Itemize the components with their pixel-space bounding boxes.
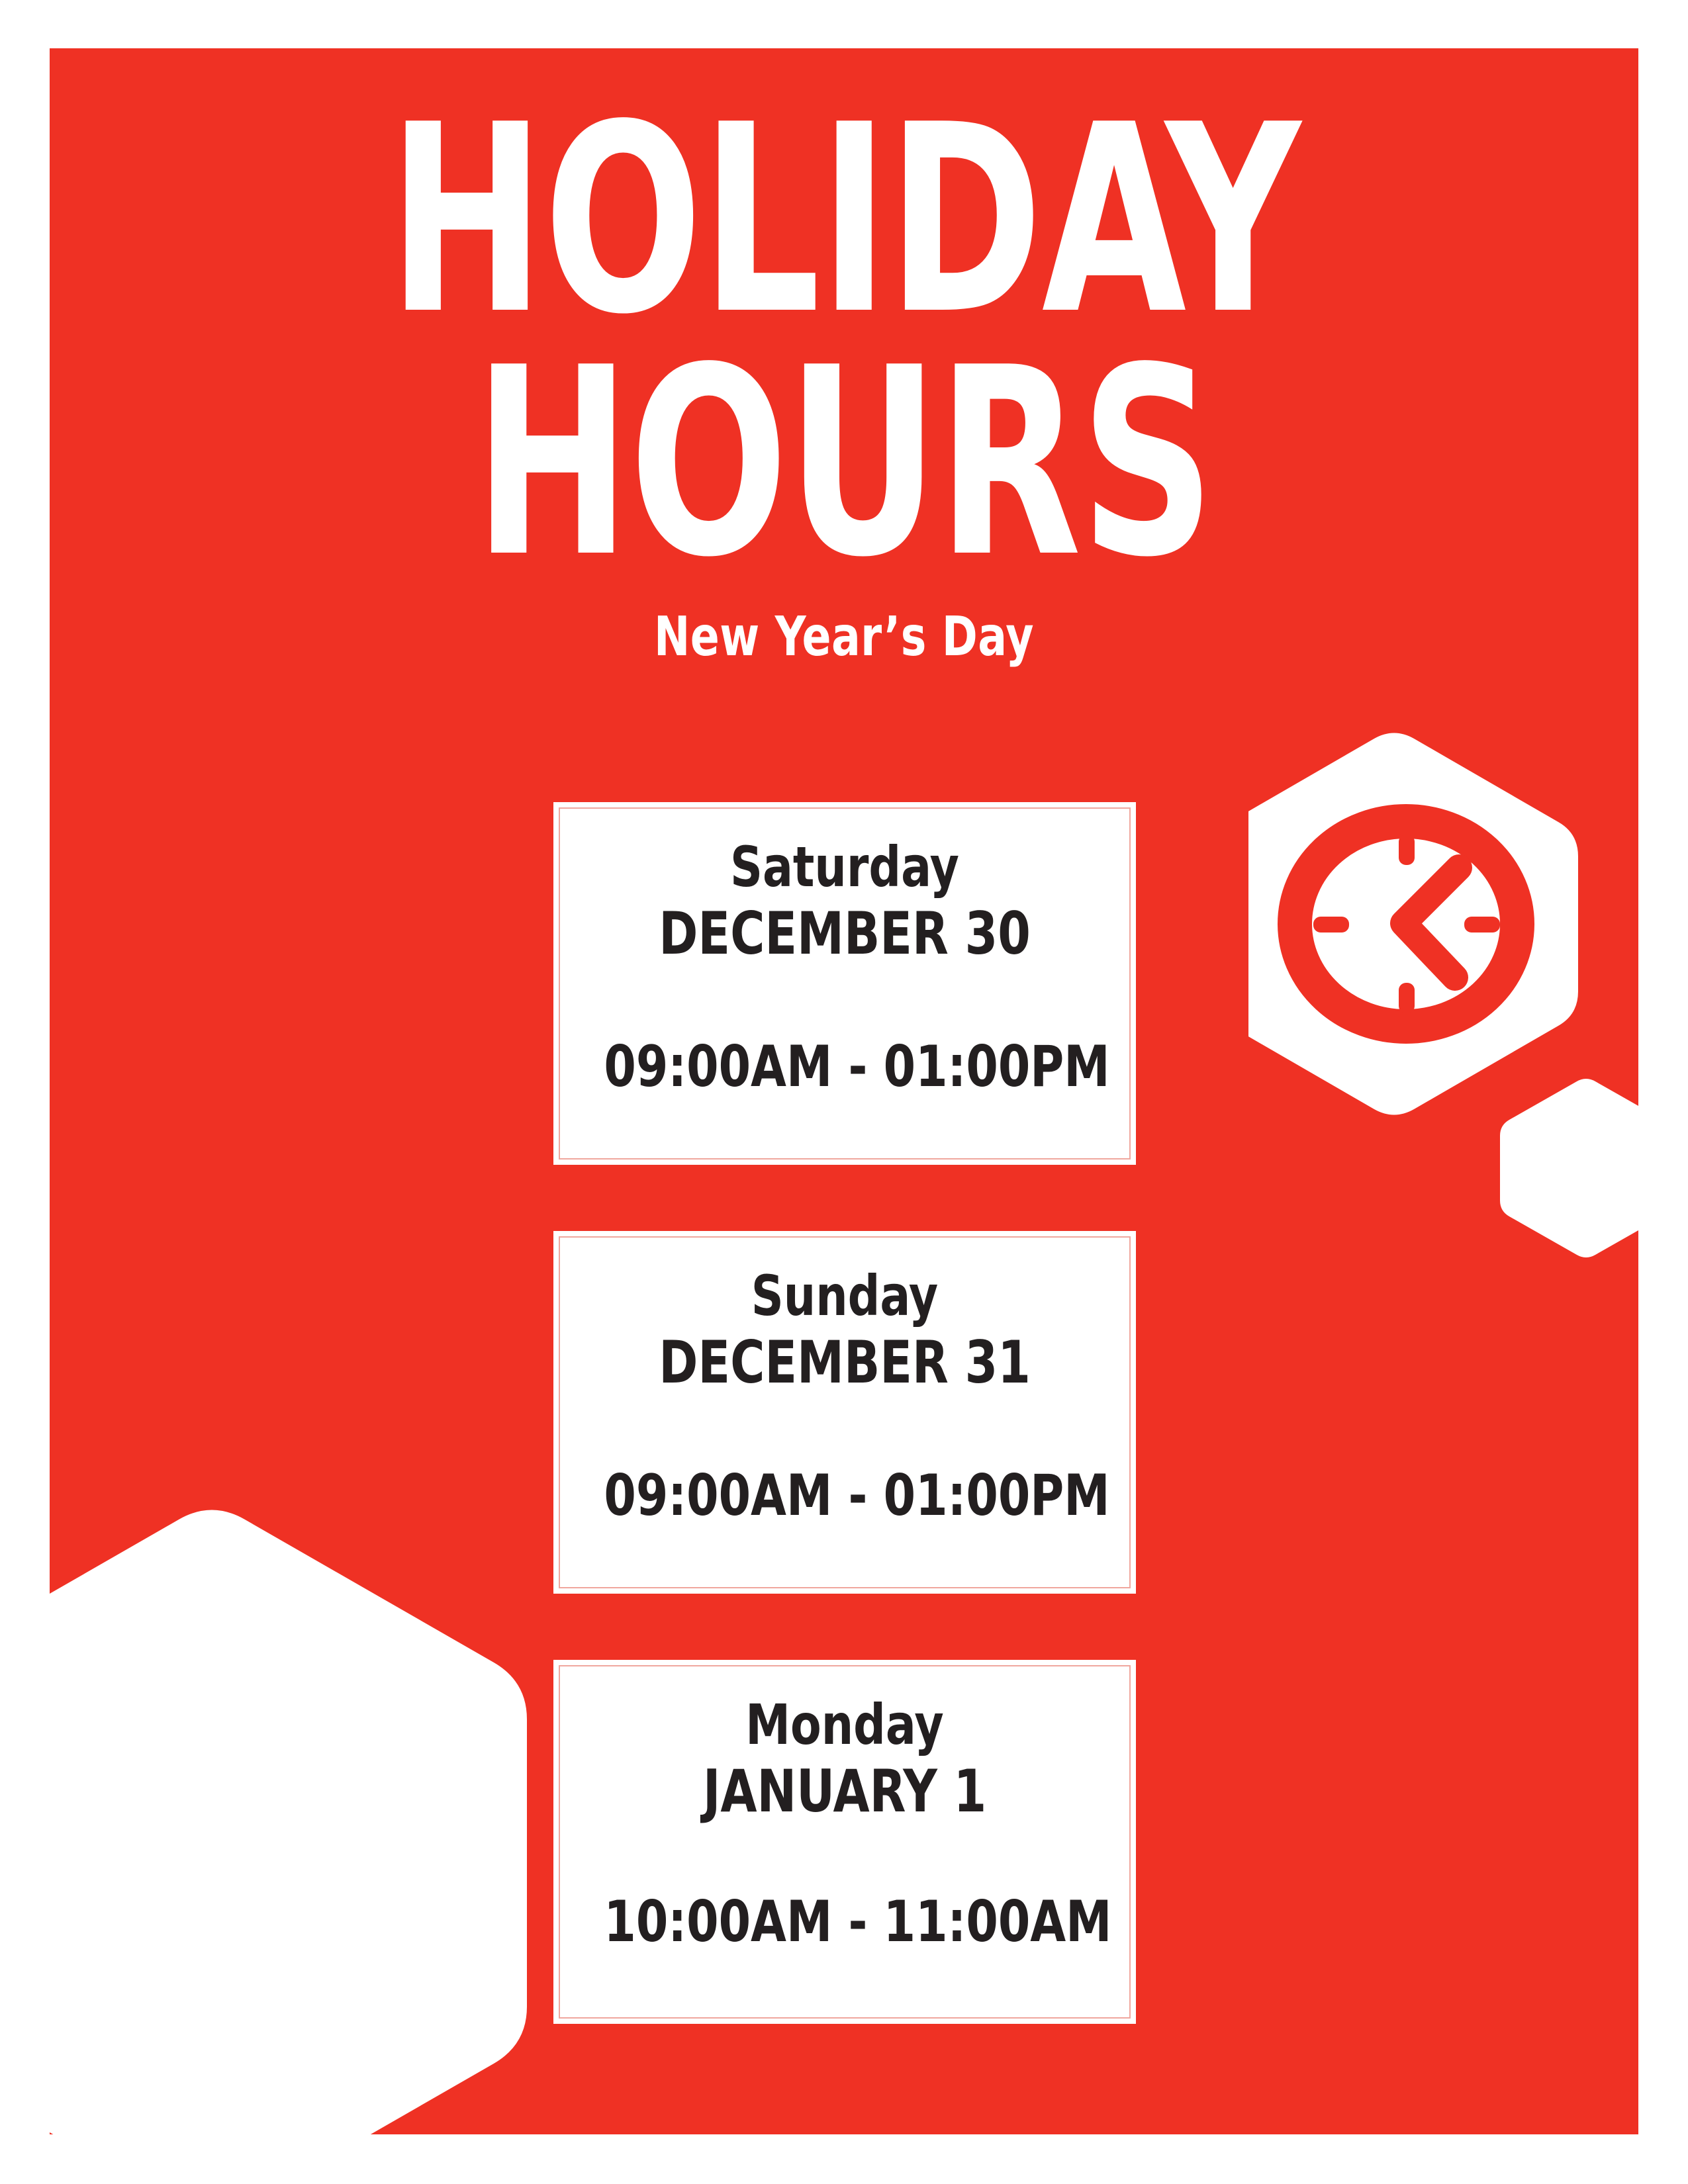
holiday-hours-poster: HOLIDAY HOURS New Year’s Day Saturday DE… bbox=[0, 0, 1688, 2184]
schedule-date: JANUARY 1 bbox=[604, 1759, 1085, 1825]
schedule-card: Monday JANUARY 1 10:00AM - 11:00AM bbox=[553, 1660, 1136, 2024]
schedule-day-name: Saturday bbox=[604, 838, 1085, 896]
schedule-card-inner: Monday JANUARY 1 10:00AM - 11:00AM bbox=[559, 1665, 1131, 2019]
schedule-hours: 10:00AM - 11:00AM bbox=[604, 1893, 1085, 1950]
schedule-day-name: Sunday bbox=[604, 1267, 1085, 1325]
schedule-card-inner: Saturday DECEMBER 30 09:00AM - 01:00PM bbox=[559, 807, 1131, 1160]
hexagon-large-decor bbox=[0, 1516, 530, 2184]
page-subtitle: New Year’s Day bbox=[145, 610, 1543, 664]
schedule-card-list: Saturday DECEMBER 30 09:00AM - 01:00PM S… bbox=[553, 802, 1136, 2024]
schedule-day-name: Monday bbox=[604, 1696, 1085, 1754]
schedule-hours: 09:00AM - 01:00PM bbox=[604, 1467, 1085, 1524]
schedule-hours: 09:00AM - 01:00PM bbox=[604, 1038, 1085, 1095]
schedule-card: Sunday DECEMBER 31 09:00AM - 01:00PM bbox=[553, 1231, 1136, 1594]
schedule-card-inner: Sunday DECEMBER 31 09:00AM - 01:00PM bbox=[559, 1236, 1131, 1588]
schedule-date: DECEMBER 31 bbox=[604, 1330, 1085, 1396]
schedule-card: Saturday DECEMBER 30 09:00AM - 01:00PM bbox=[553, 802, 1136, 1165]
schedule-date: DECEMBER 30 bbox=[604, 901, 1085, 967]
clock-icon bbox=[1248, 732, 1579, 1116]
